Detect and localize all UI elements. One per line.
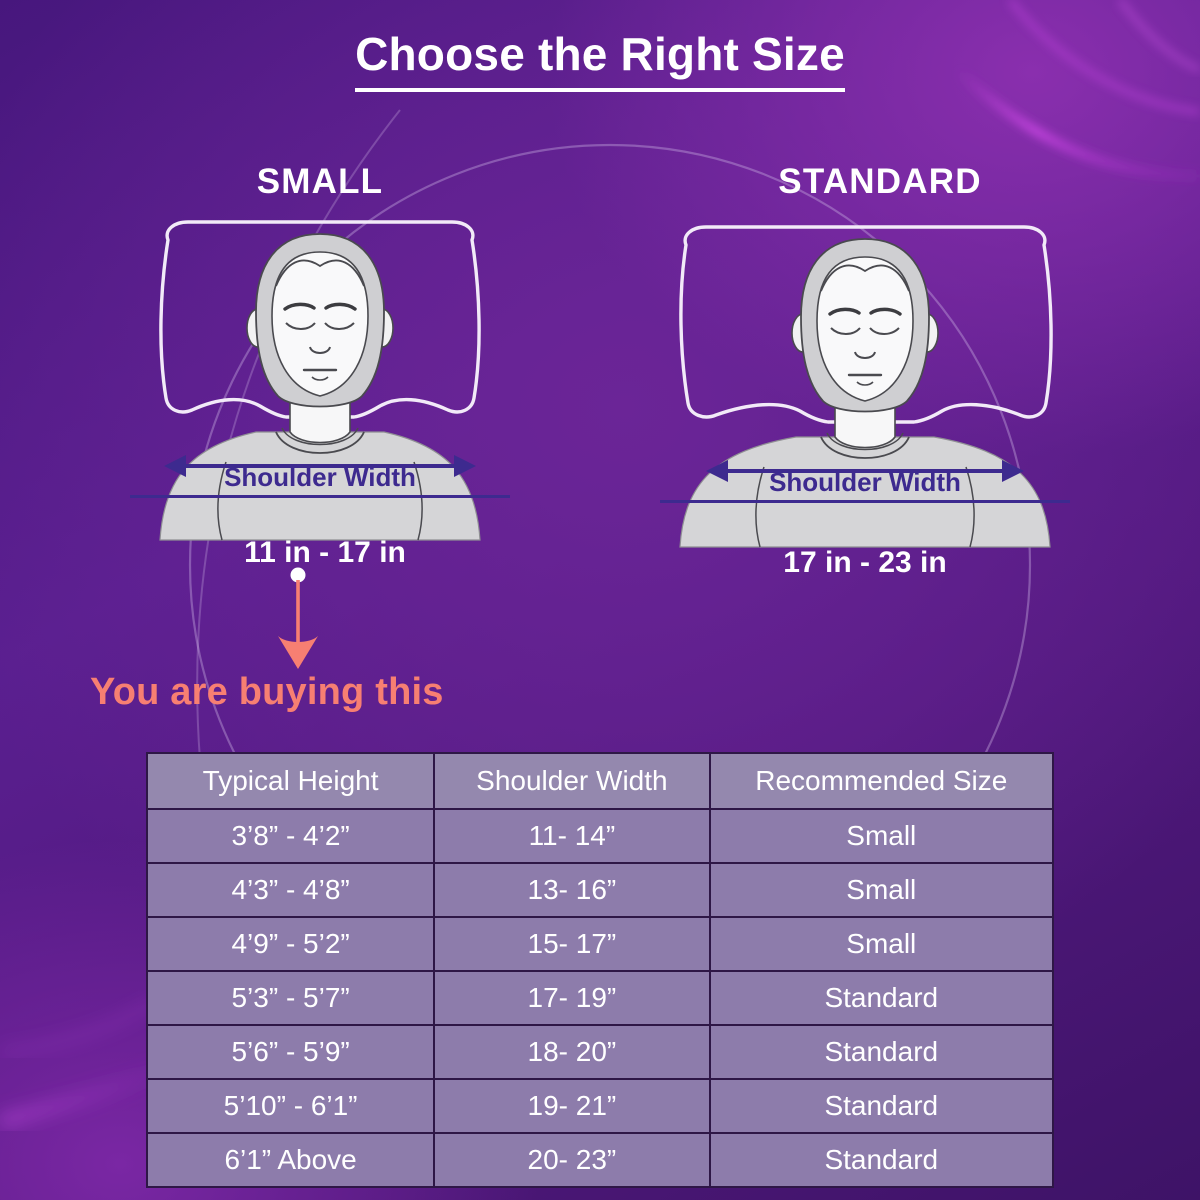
table-row: 5’3” - 5’7” 17- 19” Standard bbox=[147, 971, 1053, 1025]
table-row: 4’3” - 4’8” 13- 16” Small bbox=[147, 863, 1053, 917]
cell-recommended-size: Small bbox=[710, 809, 1053, 863]
cell-recommended-size: Standard bbox=[710, 971, 1053, 1025]
cell-recommended-size: Standard bbox=[710, 1079, 1053, 1133]
cell-shoulder-width: 17- 19” bbox=[434, 971, 709, 1025]
table-row: 5’6” - 5’9” 18- 20” Standard bbox=[147, 1025, 1053, 1079]
cell-shoulder-width: 18- 20” bbox=[434, 1025, 709, 1079]
cell-typical-height: 4’9” - 5’2” bbox=[147, 917, 434, 971]
callout-label: You are buying this bbox=[90, 671, 650, 714]
cell-typical-height: 6’1” Above bbox=[147, 1133, 434, 1187]
cell-typical-height: 4’3” - 4’8” bbox=[147, 863, 434, 917]
glow-arc-bottom-left-2 bbox=[0, 996, 164, 1052]
cell-shoulder-width: 20- 23” bbox=[434, 1133, 709, 1187]
column-header-recommended-size: Recommended Size bbox=[710, 753, 1053, 809]
cell-recommended-size: Standard bbox=[710, 1133, 1053, 1187]
table-row: 6’1” Above 20- 23” Standard bbox=[147, 1133, 1053, 1187]
cell-shoulder-width: 19- 21” bbox=[434, 1079, 709, 1133]
heading-small: SMALL bbox=[175, 162, 465, 202]
range-caption-standard: 17 in - 23 in bbox=[690, 546, 1040, 580]
page-title: Choose the Right Size bbox=[355, 27, 845, 92]
table-header-row: Typical Height Shoulder Width Recommende… bbox=[147, 753, 1053, 809]
heading-standard: STANDARD bbox=[720, 162, 1040, 202]
cell-shoulder-width: 15- 17” bbox=[434, 917, 709, 971]
cell-typical-height: 3’8” - 4’2” bbox=[147, 809, 434, 863]
table-row: 5’10” - 6’1” 19- 21” Standard bbox=[147, 1079, 1053, 1133]
column-header-shoulder-width: Shoulder Width bbox=[434, 753, 709, 809]
cell-typical-height: 5’10” - 6’1” bbox=[147, 1079, 434, 1133]
illustration-small bbox=[130, 210, 510, 570]
torso-shirt bbox=[160, 432, 480, 540]
cell-typical-height: 5’6” - 5’9” bbox=[147, 1025, 434, 1079]
cell-shoulder-width: 11- 14” bbox=[434, 809, 709, 863]
cell-recommended-size: Small bbox=[710, 917, 1053, 971]
table-row: 4’9” - 5’2” 15- 17” Small bbox=[147, 917, 1053, 971]
column-header-typical-height: Typical Height bbox=[147, 753, 434, 809]
down-arrow-icon bbox=[268, 566, 328, 672]
table-body: Typical Height Shoulder Width Recommende… bbox=[147, 753, 1053, 1187]
illustration-standard bbox=[660, 215, 1070, 575]
cell-recommended-size: Standard bbox=[710, 1025, 1053, 1079]
table-row: 3’8” - 4’2” 11- 14” Small bbox=[147, 809, 1053, 863]
torso-shirt bbox=[680, 437, 1050, 547]
infographic-canvas: Choose the Right Size SMALL STANDARD bbox=[0, 0, 1200, 1200]
cell-typical-height: 5’3” - 5’7” bbox=[147, 971, 434, 1025]
cell-recommended-size: Small bbox=[710, 863, 1053, 917]
page-title-wrap: Choose the Right Size bbox=[0, 27, 1200, 92]
cell-shoulder-width: 13- 16” bbox=[434, 863, 709, 917]
range-caption-small: 11 in - 17 in bbox=[160, 536, 490, 570]
size-chart-table: Typical Height Shoulder Width Recommende… bbox=[146, 752, 1054, 1188]
